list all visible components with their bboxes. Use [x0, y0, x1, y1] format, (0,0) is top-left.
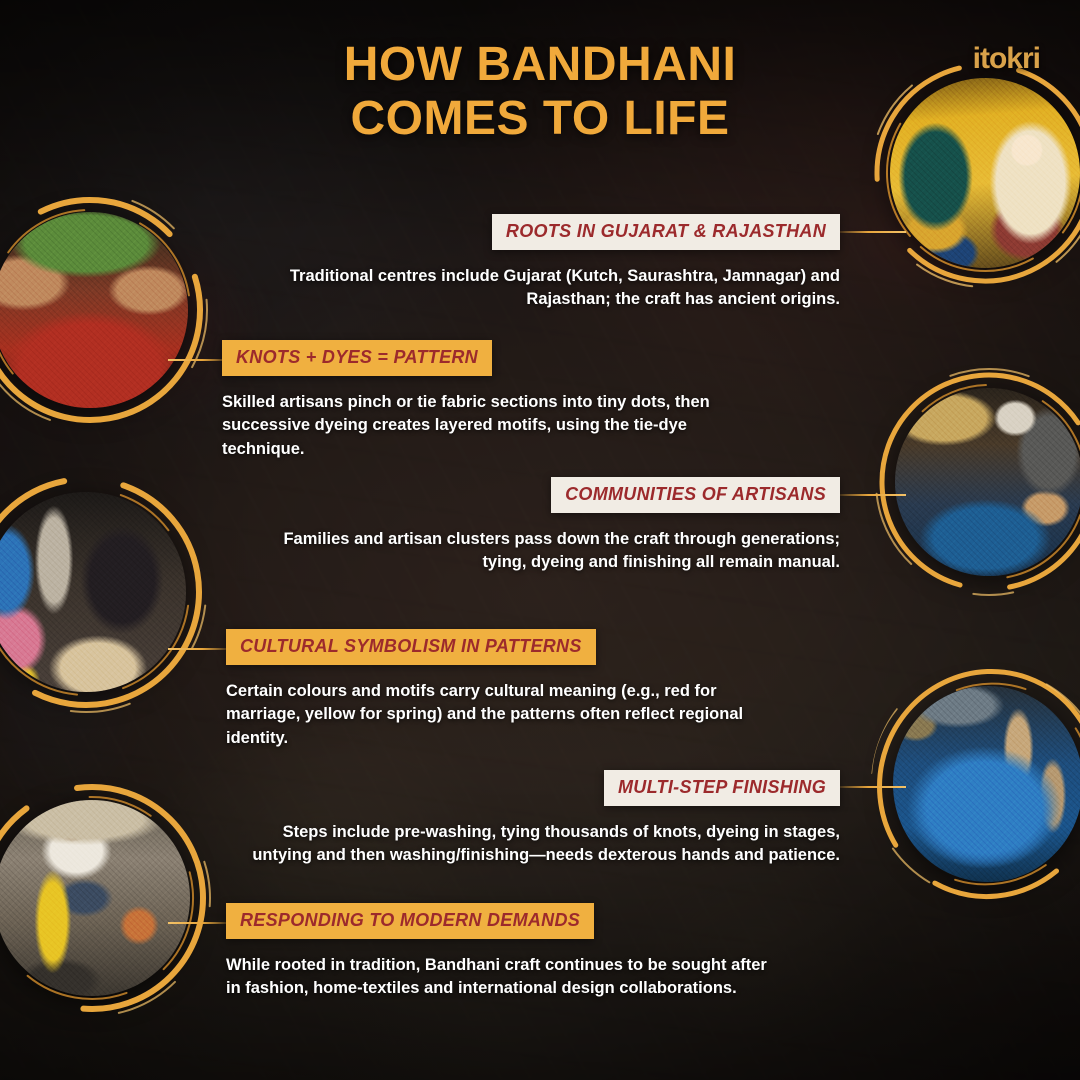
title-line-1: HOW BANDHANI [344, 38, 737, 91]
photo-red-fabric-hands [0, 212, 188, 408]
page-title: HOW BANDHANI COMES TO LIFE [0, 38, 1080, 146]
section-symbolism: CULTURAL SYMBOLISM IN PATTERNS Certain c… [226, 629, 771, 750]
infographic-canvas: HOW BANDHANI COMES TO LIFE itokri [0, 0, 1080, 1080]
section-symbolism-tag: CULTURAL SYMBOLISM IN PATTERNS [226, 629, 596, 665]
section-modern: RESPONDING TO MODERN DEMANDS While roote… [226, 903, 786, 1001]
section-finishing-body: Steps include pre-washing, tying thousan… [252, 821, 840, 868]
brand-text: itokri [973, 42, 1040, 75]
section-knots-body: Skilled artisans pinch or tie fabric sec… [222, 391, 762, 461]
photo-dyer-blue-vat [895, 388, 1080, 576]
section-symbolism-body: Certain colours and motifs carry cultura… [226, 680, 771, 750]
section-finishing-tag: MULTI-STEP FINISHING [604, 770, 840, 806]
section-roots: ROOTS IN GUJARAT & RAJASTHAN Traditional… [254, 214, 840, 312]
itokri-logo[interactable]: itokri [973, 44, 1040, 74]
section-modern-body: While rooted in tradition, Bandhani craf… [226, 954, 786, 1001]
section-roots-body: Traditional centres include Gujarat (Kut… [254, 265, 840, 312]
photo-artisan-women [0, 492, 186, 692]
title-line-2: COMES TO LIFE [351, 92, 730, 145]
connector-line-2 [168, 359, 230, 361]
section-communities-body: Families and artisan clusters pass down … [250, 528, 840, 575]
section-finishing: MULTI-STEP FINISHING Steps include pre-w… [252, 770, 840, 868]
photo-indigo-vat [893, 686, 1080, 882]
connector-line-5 [838, 786, 906, 788]
section-knots: KNOTS + DYES = PATTERN Skilled artisans … [222, 340, 762, 461]
section-knots-tag: KNOTS + DYES = PATTERN [222, 340, 492, 376]
section-communities-tag: COMMUNITIES OF ARTISANS [551, 477, 840, 513]
section-modern-tag: RESPONDING TO MODERN DEMANDS [226, 903, 594, 939]
connector-line-3 [838, 494, 906, 496]
section-communities: COMMUNITIES OF ARTISANS Families and art… [250, 477, 840, 575]
connector-line-6 [168, 922, 230, 924]
connector-line-4 [168, 648, 230, 650]
photo-yellow-lift [0, 800, 190, 996]
connector-line-1 [838, 231, 906, 233]
section-roots-tag: ROOTS IN GUJARAT & RAJASTHAN [492, 214, 840, 250]
